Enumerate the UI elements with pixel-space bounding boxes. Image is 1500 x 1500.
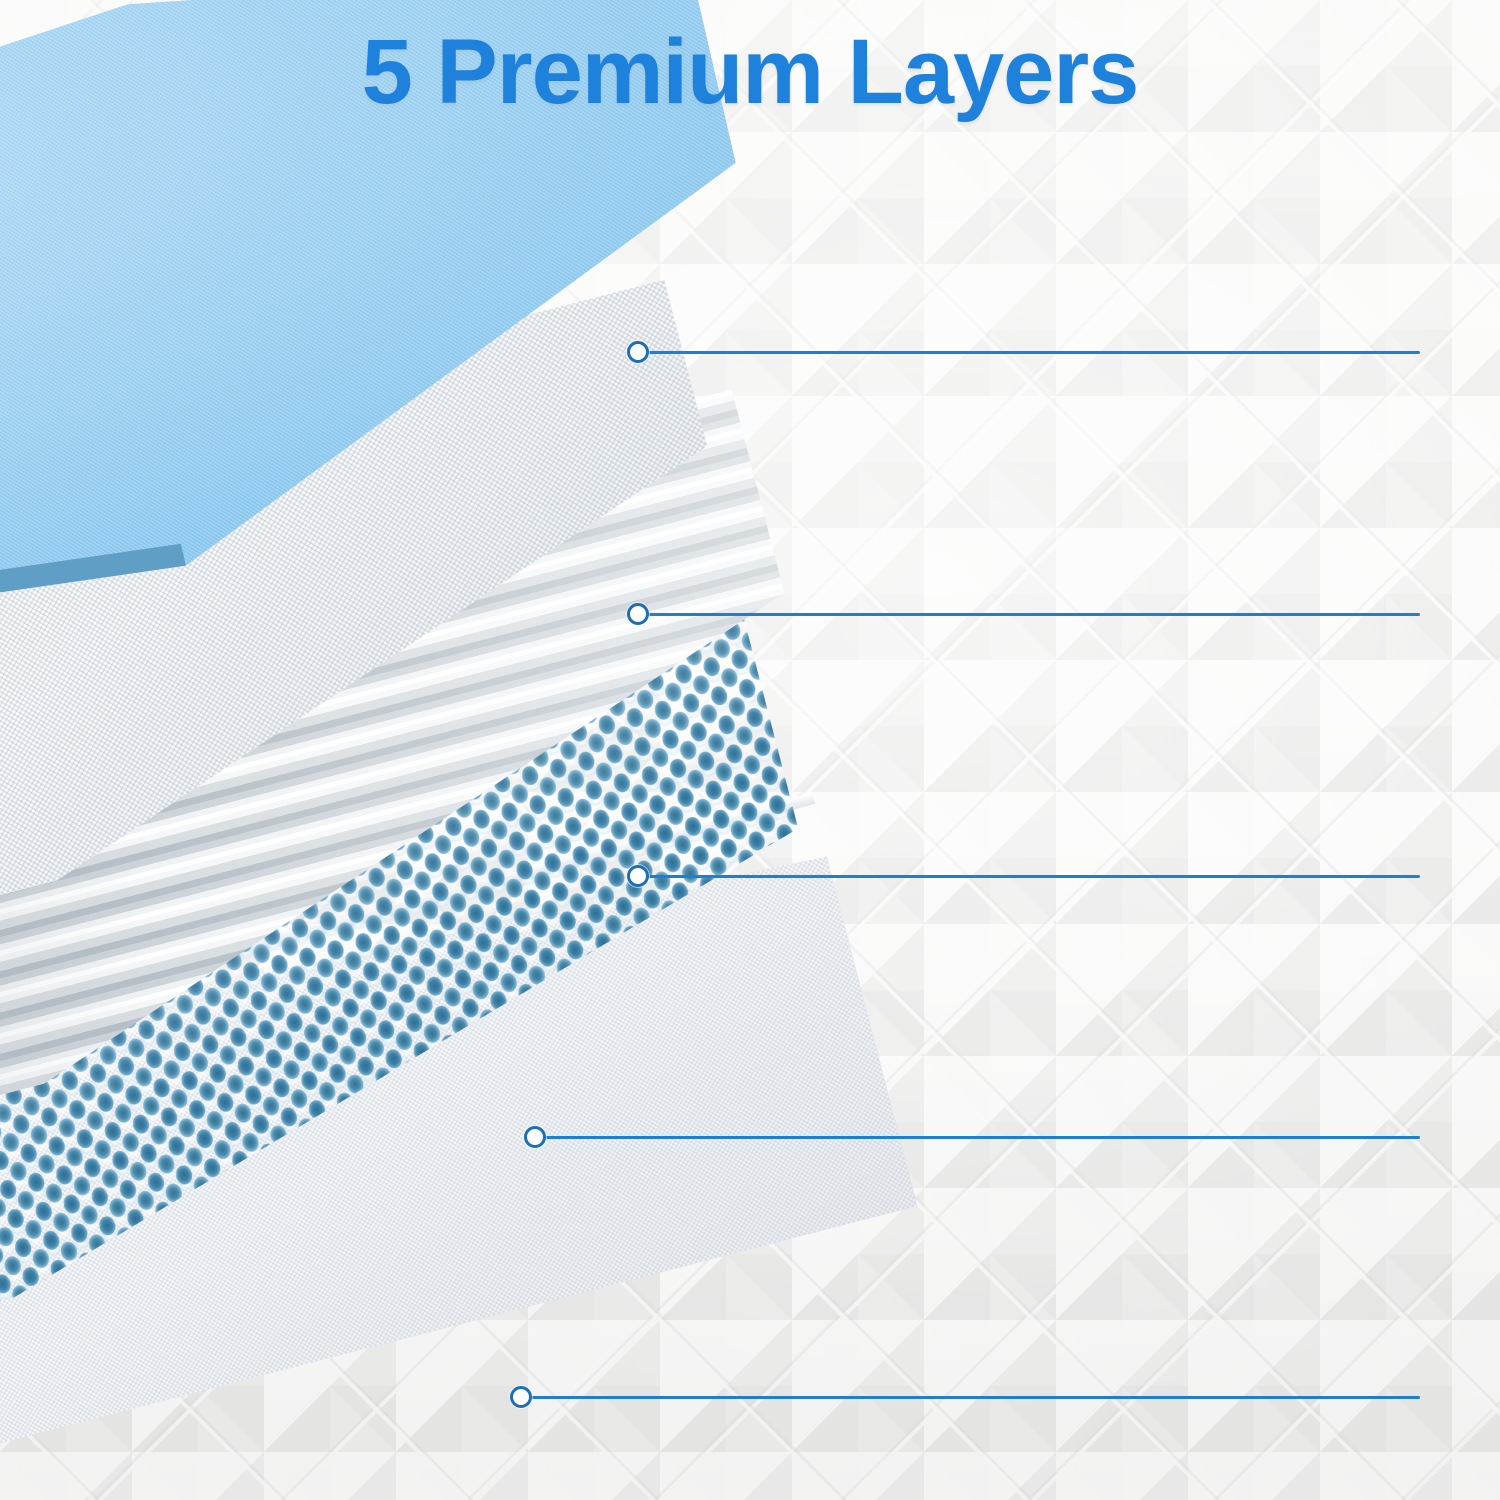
layer-1-leader-line <box>648 351 1420 354</box>
layer-5-leader-dot <box>510 1386 532 1408</box>
product-cross-section-image <box>0 0 980 1500</box>
page-title: 5 Premium Layers <box>0 26 1500 118</box>
layer-2-leader-dot <box>627 603 649 625</box>
layer-1-leader-dot <box>627 341 649 363</box>
infographic-canvas: 5 Premium Layers LAYER 1 Extra Soft Cott… <box>0 0 1500 1500</box>
layer-2-leader-line <box>648 613 1420 616</box>
layer-4-leader-dot <box>524 1126 546 1148</box>
layer-3-leader-line <box>648 875 1420 878</box>
layer-3-leader-dot <box>627 865 649 887</box>
layer-5-leader-line <box>531 1396 1420 1399</box>
layer-4-leader-line <box>545 1136 1420 1139</box>
